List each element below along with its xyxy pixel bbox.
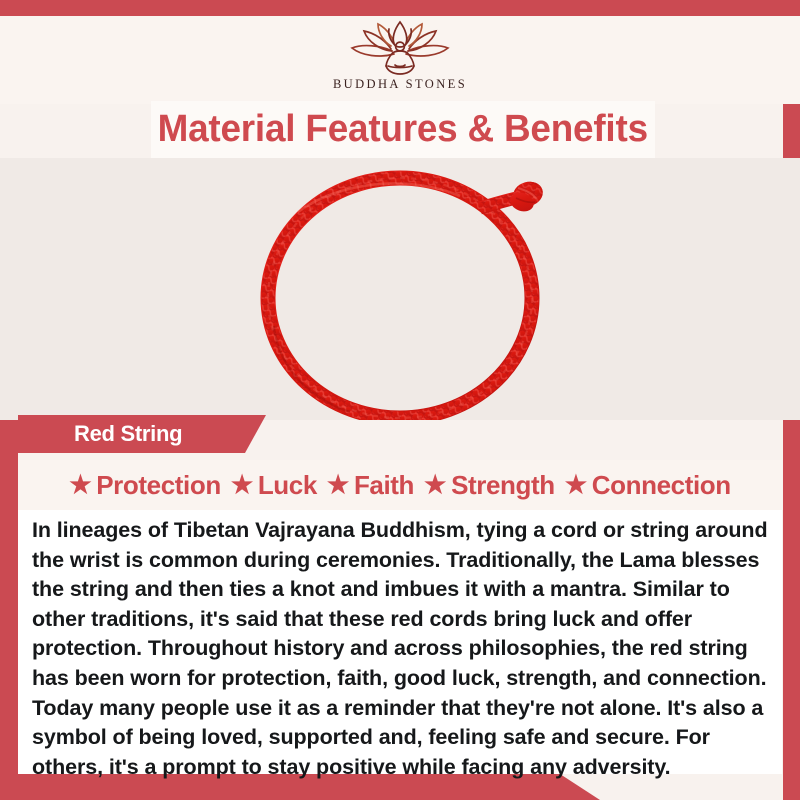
star-icon: ★ [565, 473, 587, 498]
section-title-banner: Material Features & Benefits [151, 101, 655, 158]
benefit-item-connection: ★ Connection [561, 470, 735, 501]
benefit-label: Strength [451, 470, 555, 501]
red-string-bracelet-image [228, 158, 578, 420]
star-icon: ★ [69, 473, 91, 498]
benefit-label: Luck [258, 470, 317, 501]
description-block: In lineages of Tibetan Vajrayana Buddhis… [18, 510, 782, 774]
benefits-list: ★ Protection ★ Luck ★ Faith ★ Strength ★… [18, 460, 782, 510]
brand-header: BUDDHA STONES [0, 16, 800, 104]
product-photo [0, 158, 800, 420]
decorative-top-bar [0, 0, 800, 16]
lotus-meditation-icon [336, 18, 464, 76]
benefit-label: Faith [354, 470, 414, 501]
star-icon: ★ [424, 473, 446, 498]
benefit-item-luck: ★ Luck [227, 470, 321, 501]
product-label: Red String [74, 421, 182, 447]
page-title: Material Features & Benefits [158, 108, 648, 151]
description-text: In lineages of Tibetan Vajrayana Buddhis… [32, 516, 768, 782]
benefit-label: Protection [96, 470, 221, 501]
brand-wordmark: BUDDHA STONES [333, 77, 467, 92]
product-label-banner: Red String [18, 415, 266, 453]
benefit-item-strength: ★ Strength [420, 470, 559, 501]
benefit-label: Connection [592, 470, 731, 501]
benefit-item-protection: ★ Protection [65, 470, 225, 501]
benefit-item-faith: ★ Faith [323, 470, 418, 501]
star-icon: ★ [327, 473, 349, 498]
star-icon: ★ [231, 473, 253, 498]
brand-logo: BUDDHA STONES [0, 18, 800, 92]
material-features-poster: BUDDHA STONES Material Features & Benefi… [0, 0, 800, 800]
